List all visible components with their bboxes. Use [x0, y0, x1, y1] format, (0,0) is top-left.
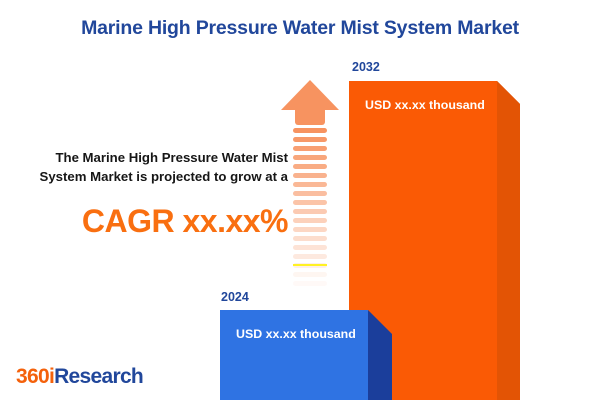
- infographic-canvas: Marine High Pressure Water Mist System M…: [0, 0, 600, 400]
- arrow-shaft-stripe: [293, 254, 327, 259]
- growth-arrow-icon: [281, 80, 339, 285]
- bar-2032-side-face: [497, 81, 520, 400]
- arrow-shaft-stripe: [293, 227, 327, 232]
- arrow-shaft-stripe: [293, 137, 327, 142]
- arrow-neck-segment: [295, 109, 325, 125]
- arrow-shaft-stripe: [293, 272, 327, 277]
- arrow-shaft-stripe: [293, 173, 327, 178]
- arrow-shaft-stripe: [293, 245, 327, 250]
- arrow-shaft-stripe: [293, 155, 327, 160]
- company-logo: 360iResearch: [16, 365, 143, 389]
- arrow-shaft-stripe: [293, 191, 327, 196]
- market-statement-text: The Marine High Pressure Water Mist Syst…: [16, 148, 288, 186]
- arrow-shaft-stripe: [293, 281, 327, 286]
- bar-label-2032: 2032: [352, 60, 380, 74]
- arrow-head-icon: [281, 80, 339, 110]
- arrow-shaft-stripe: [293, 146, 327, 151]
- bar-value-2024: USD xx.xx thousand: [236, 327, 356, 341]
- arrow-shaft-stripe: [293, 209, 327, 214]
- arrow-shaft-stripes: [293, 128, 327, 285]
- arrow-shaft-stripe: [293, 200, 327, 205]
- logo-text-360: 360: [16, 365, 49, 388]
- logo-text-research: Research: [54, 365, 143, 388]
- arrow-shaft-stripe: [293, 128, 327, 133]
- bar-2024-front-face: [220, 310, 368, 400]
- arrow-highlight-stripe: [293, 264, 327, 266]
- bar-label-2024: 2024: [221, 290, 249, 304]
- arrow-shaft-stripe: [293, 182, 327, 187]
- page-title: Marine High Pressure Water Mist System M…: [0, 17, 600, 40]
- bar-value-2032: USD xx.xx thousand: [365, 98, 485, 112]
- arrow-shaft-stripe: [293, 218, 327, 223]
- arrow-shaft-stripe: [293, 164, 327, 169]
- cagr-value: CAGR xx.xx%: [16, 203, 288, 240]
- arrow-shaft-stripe: [293, 236, 327, 241]
